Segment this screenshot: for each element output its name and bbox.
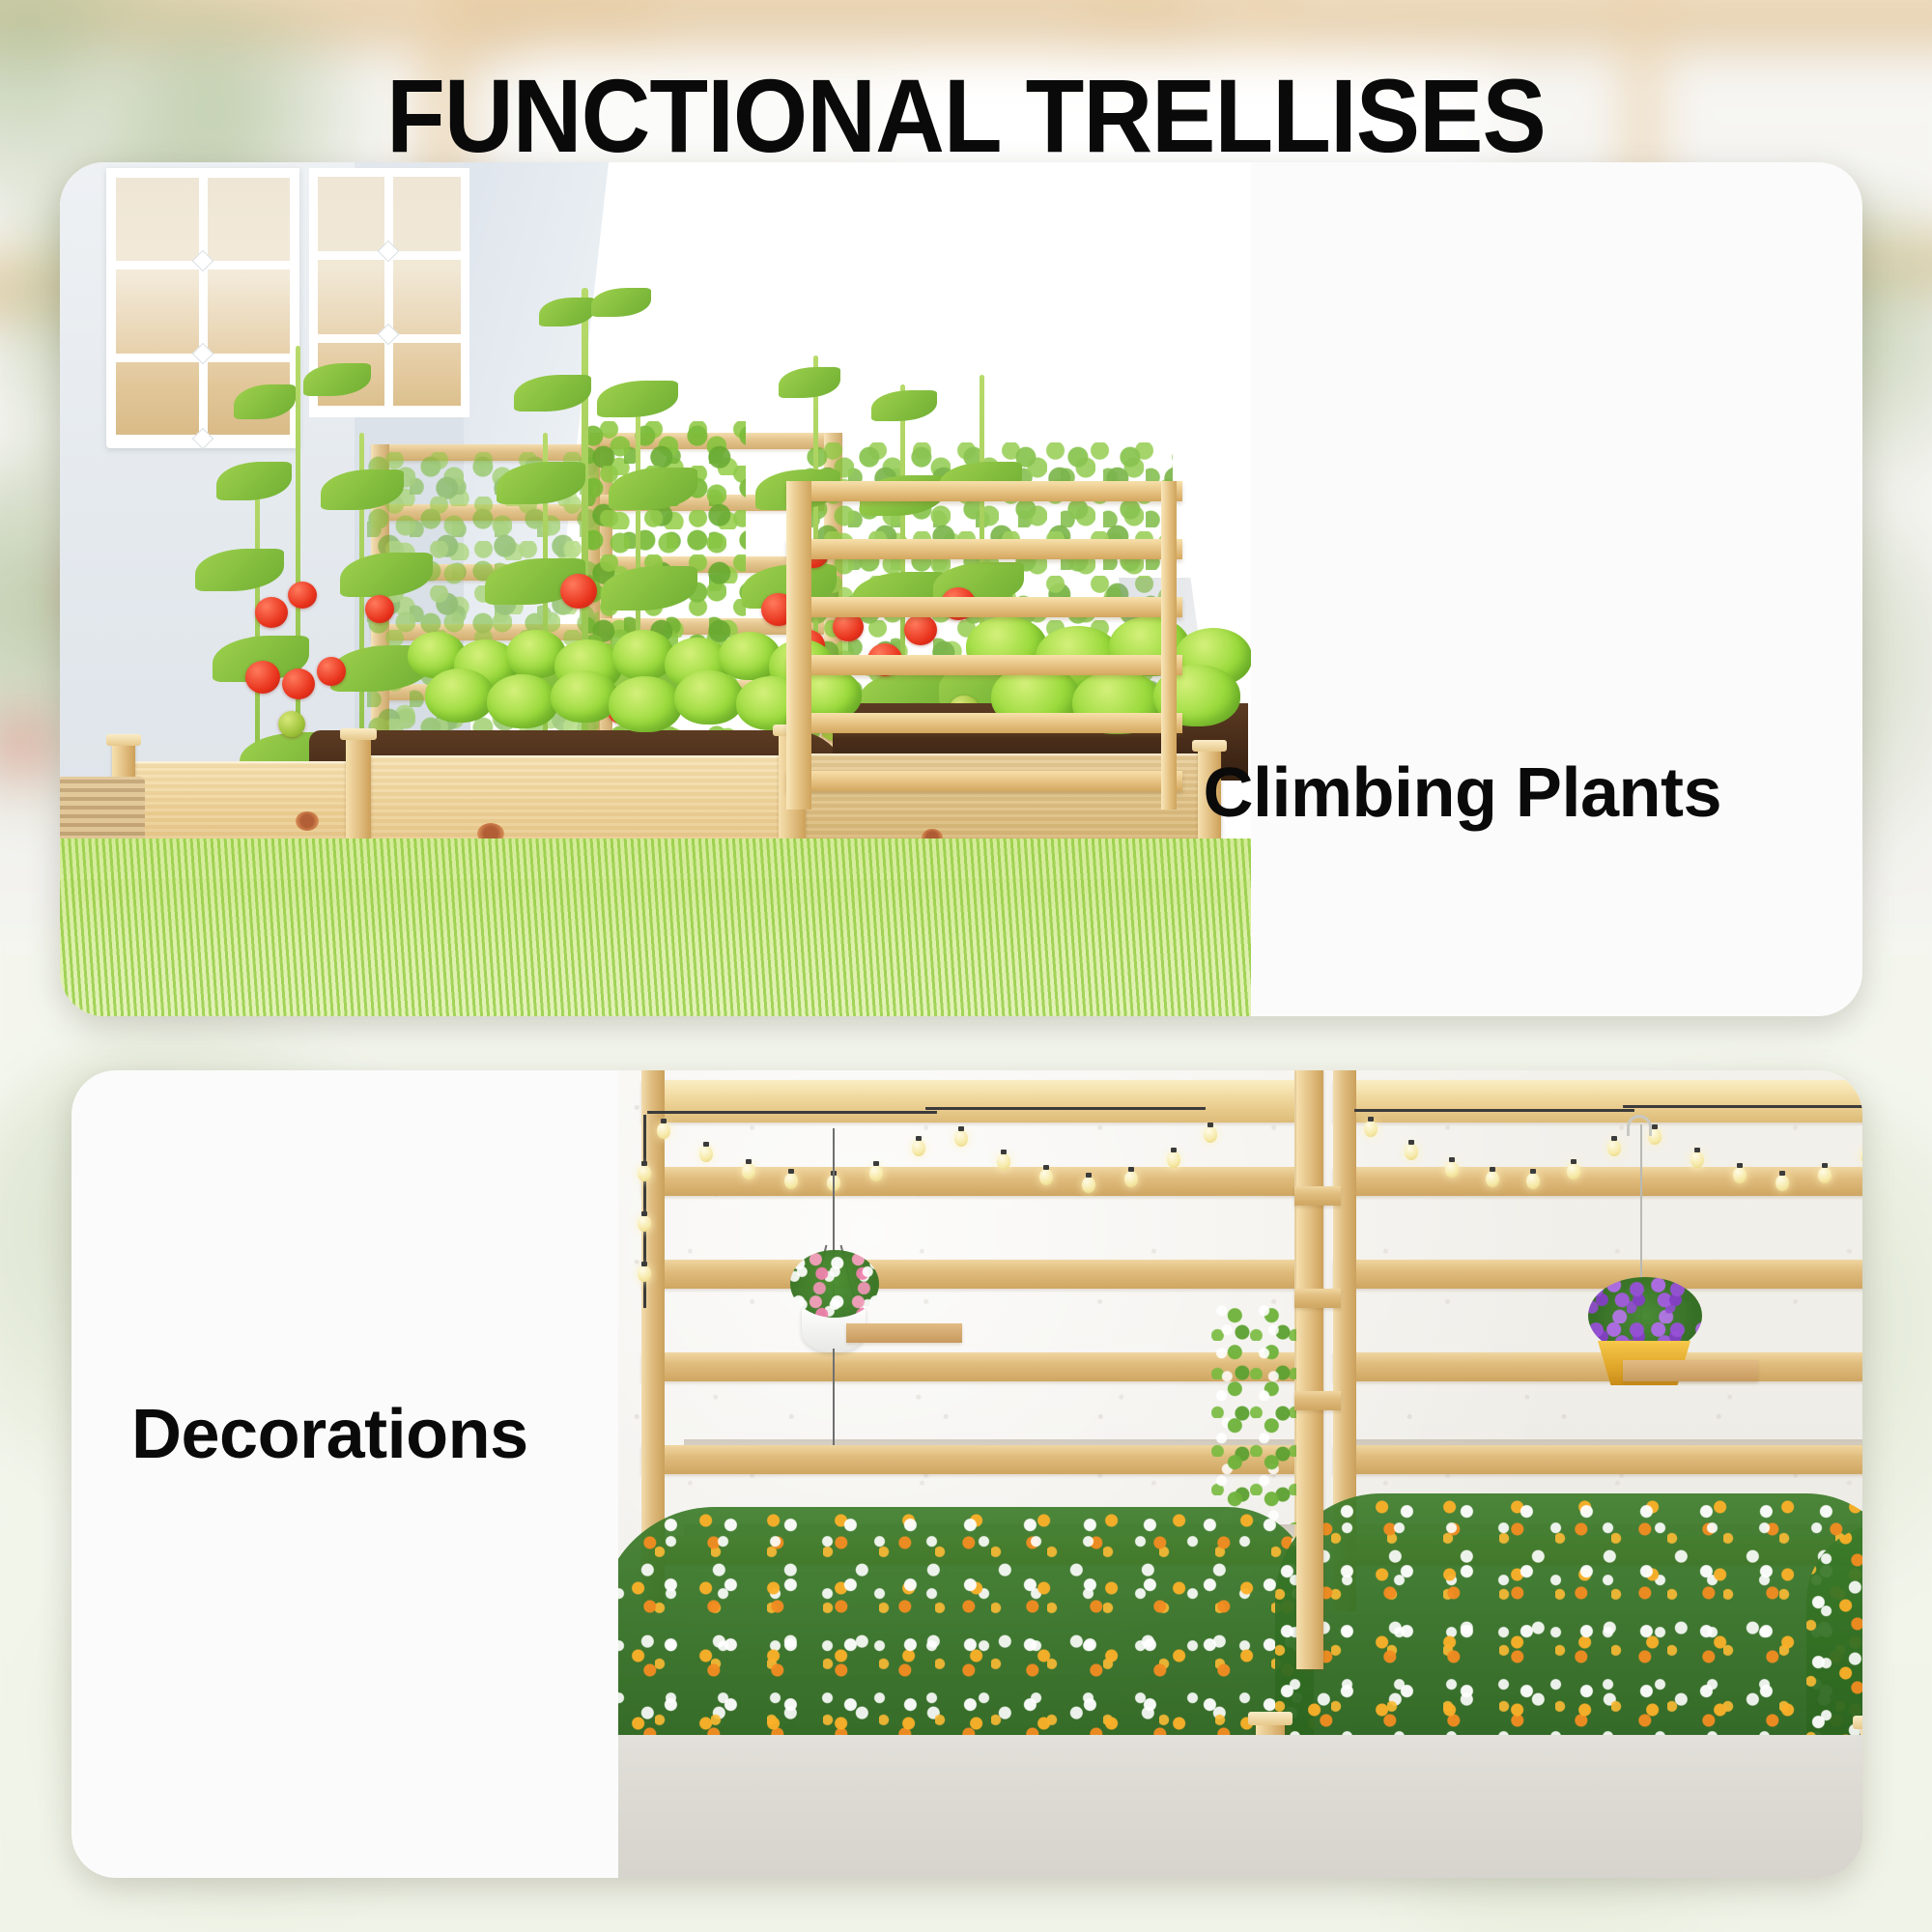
lawn-grass-front — [60, 879, 1251, 1016]
feature-card-climbing-plants: Climbing Plants — [60, 162, 1862, 1016]
caption-climbing-plants: Climbing Plants — [1203, 753, 1721, 833]
caption-decorations: Decorations — [131, 1395, 528, 1474]
photo-decorations — [618, 1070, 1862, 1878]
feature-card-decorations: Decorations — [71, 1070, 1862, 1878]
page-title: FUNCTIONAL TRELLISES — [77, 64, 1855, 168]
concrete-ground — [618, 1735, 1862, 1878]
flower-bed-right — [1275, 1493, 1862, 1764]
trellis-divider-post — [1296, 1070, 1323, 1669]
trellis-panel-front — [786, 481, 1182, 810]
photo-climbing-plants — [60, 162, 1251, 1016]
flower-bed-left — [618, 1507, 1314, 1766]
